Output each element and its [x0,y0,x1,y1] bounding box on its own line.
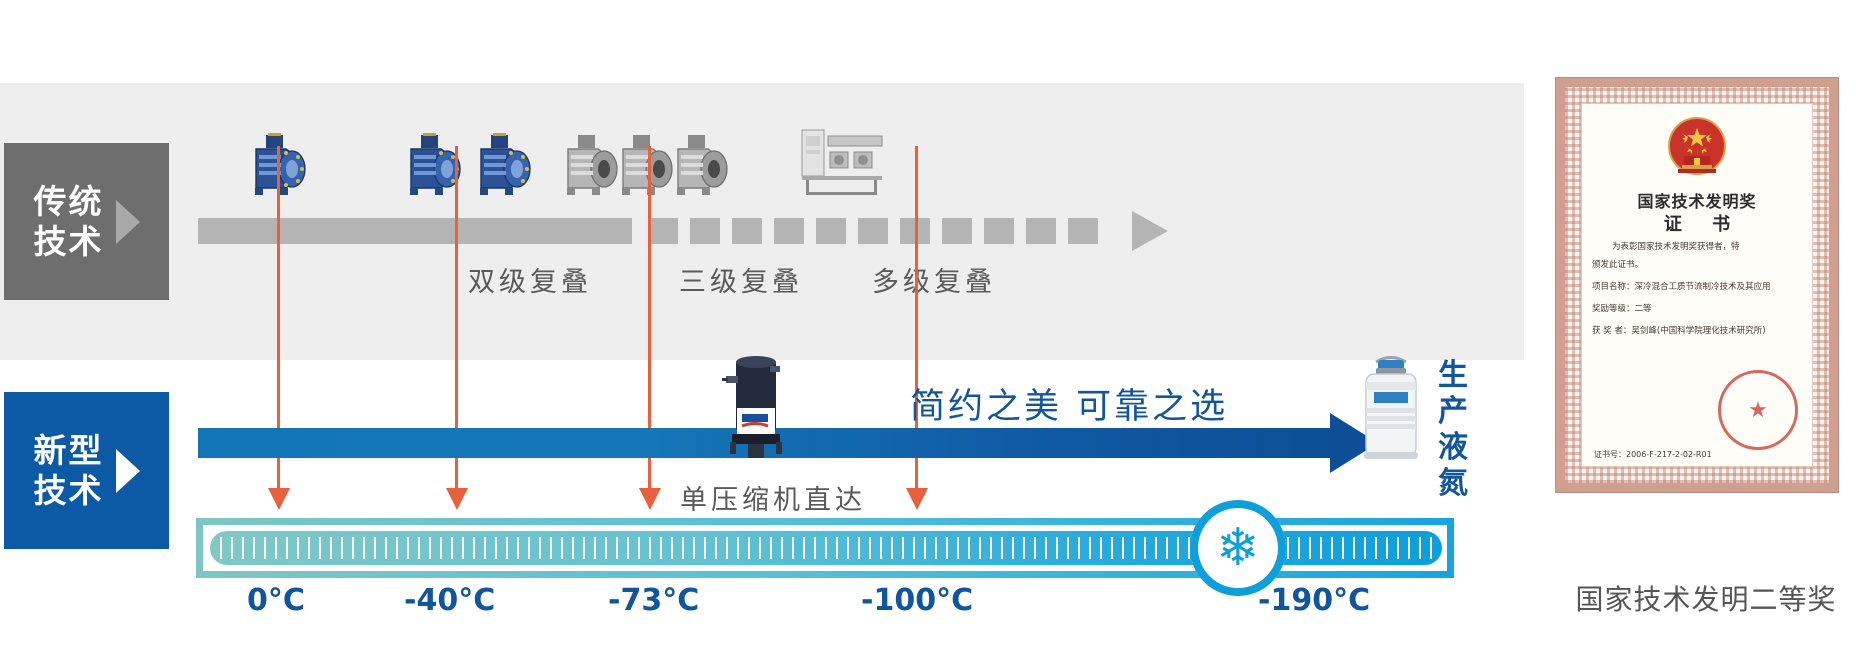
national-emblem-icon [1660,114,1734,184]
certificate-subtitle: 证 书 [1582,210,1812,236]
legacy-arrow-dash [942,218,972,244]
temperature-label-0c: 0°C [247,583,305,618]
temperature-label-40c: -40°C [404,583,495,618]
snowflake-badge: ❄ [1190,500,1286,596]
certificate-number-value: 2006-F-217-2-02-R01 [1626,450,1712,459]
compressor-icon [475,133,533,195]
marker-arrowhead-100c [906,488,928,510]
compressor-icon [617,133,675,195]
certificate-title: 国家技术发明奖 [1582,188,1812,212]
marker-arrowhead-73c [639,488,661,510]
infographic-canvas: 传统 技术 新型 技术 [0,0,1856,671]
certificate-number-label: 证书号： [1594,450,1626,459]
compressor-icon [672,133,730,195]
red-official-seal-icon: ★ [1718,370,1798,450]
multistage-refrigeration-unit-icon [800,126,886,196]
certificate-inner-panel: 国家技术发明奖 证 书 为表彰国家技术发明奖获得者，特 颁发此证书。 项目名称：… [1581,103,1813,467]
modern-technology-label-chip: 新型 技术 [4,392,169,549]
legacy-arrow-solid-segment [198,218,632,244]
legacy-arrow-dash [1026,218,1056,244]
certificate-project-label: 项目名称： [1592,282,1635,292]
legacy-arrow-dash [732,218,762,244]
temperature-label-100c: -100°C [861,583,973,618]
compressor-icon [562,133,620,195]
legacy-arrow-dash [984,218,1014,244]
legacy-arrow-head [1132,211,1168,251]
liquid-nitrogen-dewar-icon [1352,352,1430,464]
legacy-process-arrow [198,218,1168,248]
single-compressor-direct-label: 单压缩机直达 [680,478,866,517]
legacy-arrow-dash [648,218,678,244]
stage-label-three-stage: 三级复叠 [679,260,803,299]
liquid-nitrogen-production-label: 生产液氮 [1432,358,1474,502]
certificate-intro-line-2: 颁发此证书。 [1592,258,1802,273]
legacy-arrow-dash [774,218,804,244]
certificate-body: 为表彰国家技术发明奖获得者，特 颁发此证书。 项目名称：深冷混合工质节流制冷技术… [1592,240,1802,342]
temperature-label-190c: -190°C [1258,583,1370,618]
certificate-caption: 国家技术发明二等奖 [1556,578,1856,618]
certificate-project-value: 深冷混合工质节流制冷技术及其应用 [1635,282,1771,292]
chevron-right-icon [116,200,140,244]
seal-star-glyph: ★ [1748,397,1768,423]
stage-label-multi-stage: 多级复叠 [872,260,996,299]
compressor-icon [718,352,790,460]
award-certificate-image: 国家技术发明奖 证 书 为表彰国家技术发明奖获得者，特 颁发此证书。 项目名称：… [1556,78,1838,492]
snowflake-icon: ❄ [1216,522,1260,574]
legacy-technology-label: 传统 技术 [34,182,104,262]
chevron-right-icon [116,449,140,493]
legacy-arrow-dash [816,218,846,244]
marker-arrowhead-0c [268,488,290,510]
certificate-intro-line-1: 为表彰国家技术发明奖获得者，特 [1592,240,1802,255]
certificate-grade-value: 二等 [1635,304,1652,314]
modern-tagline: 简约之美 可靠之选 [910,378,1228,429]
legacy-technology-label-chip: 传统 技术 [4,143,169,300]
marker-arrowhead-40c [446,488,468,510]
stage-label-two-stage: 双级复叠 [468,260,592,299]
certificate-winner-label: 获 奖 者： [1592,326,1631,336]
certificate-winner-value: 吴剑峰(中国科学院理化技术研究所) [1631,326,1765,336]
certificate-number-line: 证书号：2006-F-217-2-02-R01 [1594,449,1712,460]
legacy-arrow-dash [690,218,720,244]
legacy-arrow-dash [1068,218,1098,244]
legacy-arrow-dash [858,218,888,244]
temperature-label-73c: -73°C [608,583,699,618]
certificate-grade-label: 奖励等级： [1592,304,1635,314]
modern-technology-label: 新型 技术 [34,431,104,511]
